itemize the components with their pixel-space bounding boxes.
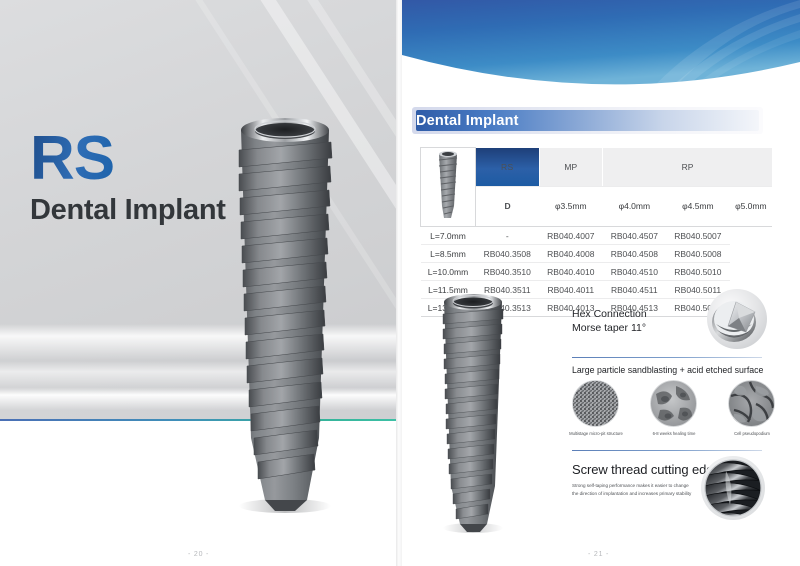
table-cell-code: RB040.3510: [476, 263, 540, 281]
micrograph-image-1: [572, 380, 619, 427]
table-row: L=10.0mm RB040.3510 RB040.4010 RB040.451…: [421, 263, 773, 281]
table-cell-code: RB040.5010: [666, 263, 730, 281]
page-title: RS: [30, 128, 114, 190]
feature-screw-title: Screw thread cutting edge: [572, 462, 721, 477]
table-cell-code: -: [476, 227, 540, 245]
table-group-header-mp: MP: [539, 148, 603, 187]
table-cell-code: RB040.3508: [476, 245, 540, 263]
page-number-right: - 21 -: [588, 551, 609, 558]
table-cell-code: RB040.4007: [539, 227, 603, 245]
table-length-label: L=8.5mm: [421, 245, 476, 263]
section-title: Dental Implant: [416, 111, 519, 132]
feature-surface-title: Large particle sandblasting + acid etche…: [572, 365, 787, 375]
micrograph-caption-2: 6-8 weeks healing time: [643, 431, 705, 437]
screw-thread-image: [700, 455, 766, 521]
page-number-left: - 20 -: [188, 551, 209, 558]
table-cell-code: RB040.4010: [539, 263, 603, 281]
implant-detail-image: [430, 288, 516, 534]
table-cell-code: RB040.4008: [539, 245, 603, 263]
table-dimension-d40: φ4.0mm: [603, 186, 667, 226]
feature-hex-title: Hex Connection Morse taper 11°: [572, 307, 702, 335]
left-page: RS Dental Implant: [0, 0, 396, 566]
table-product-thumbnail-cell: [421, 148, 476, 227]
feature-screw-description: Strong self-taping performance makes it …: [572, 482, 696, 497]
feature-hex-line1: Hex Connection: [572, 308, 647, 320]
hex-connection-image: [706, 288, 768, 350]
micrograph-image-3: [728, 380, 775, 427]
catalog-spread: RS Dental Implant: [0, 0, 800, 566]
table-cell-code: RB040.4511: [603, 281, 667, 299]
table-dimension-d50: φ5.0mm: [730, 186, 772, 226]
feature-hex-line2: Morse taper 11°: [572, 322, 646, 334]
implant-hero-image: [215, 108, 355, 514]
table-dimension-d35: φ3.5mm: [539, 186, 603, 226]
table-row: L=7.0mm - RB040.4007 RB040.4507 RB040.50…: [421, 227, 773, 245]
table-length-label: L=10.0mm: [421, 263, 476, 281]
table-length-label: L=7.0mm: [421, 227, 476, 245]
table-cell-code: RB040.4510: [603, 263, 667, 281]
table-cell-code: RB040.4507: [603, 227, 667, 245]
header-banner: [402, 0, 800, 104]
implant-thumbnail-icon: [435, 148, 461, 224]
table-dimension-label: D: [476, 186, 540, 226]
table-cell-code: RB040.5007: [666, 227, 730, 245]
micrograph-caption-1: Multistage micro-pit structure: [565, 431, 627, 437]
micrograph-caption-3: Cell pseudopodium: [721, 431, 783, 437]
micrograph-image-2: [650, 380, 697, 427]
page-subtitle: Dental Implant: [30, 196, 226, 225]
micrograph-row: [572, 380, 787, 428]
table-cell-code: RB040.4011: [539, 281, 603, 299]
table-dimension-d45: φ4.5mm: [666, 186, 730, 226]
table-cell-code: RB040.5008: [666, 245, 730, 263]
table-row: L=8.5mm RB040.3508 RB040.4008 RB040.4508…: [421, 245, 773, 263]
feature-divider-1: [572, 357, 762, 358]
feature-divider-2: [572, 450, 762, 451]
table-header-row: RS MP RP: [421, 148, 773, 187]
table-cell-code: RB040.4508: [603, 245, 667, 263]
table-group-header-rs: RS: [476, 148, 540, 187]
table-group-header-rp: RP: [603, 148, 772, 187]
